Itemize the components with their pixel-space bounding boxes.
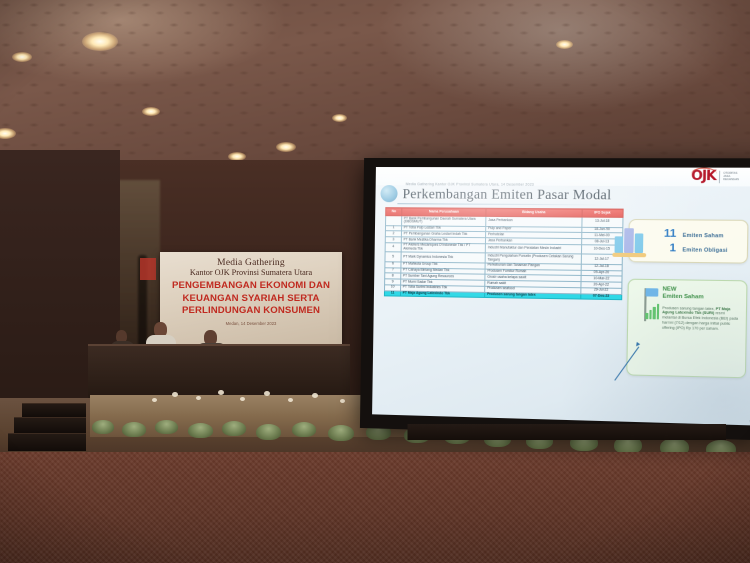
- ojk-logo-subtext: OTORITAS JASA KEUANGAN: [723, 171, 750, 181]
- slide-title: Perkembangan Emiten Pasar Modal: [402, 186, 611, 203]
- cell-no: 4: [385, 243, 401, 253]
- new-card-title-2: Emiten Saham: [662, 294, 739, 303]
- event-backdrop-banner: Media Gathering Kantor OJK Provinsi Suma…: [160, 252, 342, 344]
- stat-number: 11: [661, 228, 676, 241]
- banner-headline-1: PENGEMBANGAN EKONOMI DAN: [165, 280, 337, 293]
- presentation-slide: OJK OTORITAS JASA KEUANGAN Media Gatheri…: [372, 167, 750, 425]
- carpet-texture: [0, 452, 750, 563]
- flag-chart-icon: [635, 286, 661, 321]
- cell-ipo: 07-Des-23: [580, 293, 621, 300]
- new-emiten-card: NEW Emiten Saham Produsen sarung tangan …: [626, 279, 747, 379]
- new-card-body: Produsen sarung tangan latex, PT Maja Ag…: [662, 306, 740, 332]
- ceiling-downlight: [12, 52, 32, 62]
- cell-bidang: Produsen sarung tangan latex: [485, 292, 581, 299]
- carpet-floor: [0, 452, 750, 563]
- stat-list: 11 Emiten Saham 1 Emiten Obligasi: [661, 226, 728, 256]
- cell-nama: PT Maja Agung Latexindo Tbk: [401, 291, 485, 298]
- stat-item: 1 Emiten Obligasi: [661, 242, 728, 255]
- ojk-sub-3: KEUANGAN: [723, 178, 750, 181]
- emiten-table-body: PT Bank Pembangunan Daerah Sumatera Utar…: [384, 216, 623, 300]
- ojk-logo-divider: [719, 170, 720, 182]
- ceiling-downlight: [556, 40, 573, 49]
- stat-label: Emiten Obligasi: [682, 247, 727, 254]
- red-accent-panel: [140, 258, 156, 280]
- banner-line-1: Media Gathering: [165, 258, 337, 268]
- cell-no: 5: [385, 252, 401, 262]
- ojk-logo-arc: [691, 168, 717, 174]
- cell-no: 11: [384, 290, 400, 296]
- ojk-logo: OJK OTORITAS JASA KEUANGAN: [691, 170, 750, 184]
- banner-headline-2: KEUANGAN SYARIAH SERTA: [165, 293, 337, 306]
- ceiling-downlight: [142, 107, 160, 116]
- slide-title-rule: [397, 203, 602, 205]
- conference-hall-photo: Media Gathering Kantor OJK Provinsi Suma…: [0, 0, 750, 563]
- stat-label: Emiten Saham: [683, 233, 724, 240]
- ceiling-downlight: [276, 142, 296, 152]
- col-header-no: No: [386, 208, 402, 216]
- flag-cloth: [645, 288, 658, 296]
- stat-number: 1: [661, 242, 676, 255]
- projection-screen: OJK OTORITAS JASA KEUANGAN Media Gatheri…: [360, 158, 750, 440]
- ceiling-downlight: [332, 114, 347, 122]
- banner-headline-3: PERLINDUNGAN KONSUMEN: [165, 305, 337, 318]
- stat-summary-card: 11 Emiten Saham 1 Emiten Obligasi: [628, 219, 748, 264]
- slide-title-orb-icon: [380, 185, 397, 202]
- banner-date: Medan, 14 Desember 2023: [165, 321, 337, 326]
- buildings-icon: [612, 226, 648, 257]
- stat-item: 11 Emiten Saham: [661, 228, 728, 241]
- screen-stand: [407, 424, 726, 440]
- cell-no: [386, 216, 402, 226]
- col-header-ipo: IPO Sejak: [582, 209, 623, 218]
- ceiling-downlight: [82, 32, 118, 51]
- banner-line-2: Kantor OJK Provinsi Sumatera Utara: [165, 268, 337, 277]
- emiten-table: No Nama Perusahaan Bidang Usaha IPO Seja…: [384, 207, 624, 300]
